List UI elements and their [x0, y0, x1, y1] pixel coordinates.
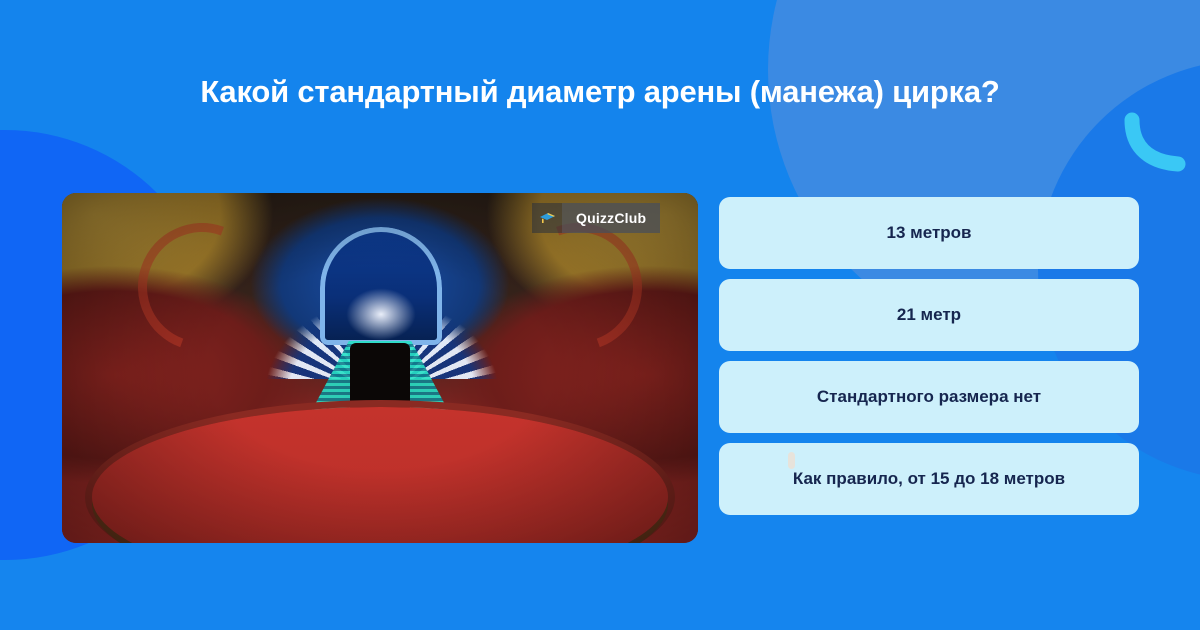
page-title: Какой стандартный диаметр арены (манежа)…	[0, 72, 1200, 112]
graduation-cap-icon	[532, 203, 562, 233]
answer-option-1-label: 13 метров	[887, 223, 972, 243]
watermark: QuizzClub	[532, 203, 660, 233]
answer-option-3[interactable]: Стандартного размера нет	[719, 361, 1139, 433]
answer-option-4-label: Как правило, от 15 до 18 метров	[793, 469, 1065, 489]
quiz-card: Какой стандартный диаметр арены (манежа)…	[0, 0, 1200, 630]
question-image: QuizzClub	[62, 193, 698, 543]
answer-options-list: 13 метров 21 метр Стандартного размера н…	[719, 197, 1139, 525]
scroll-indicator[interactable]	[788, 452, 795, 469]
answer-option-2[interactable]: 21 метр	[719, 279, 1139, 351]
answer-option-2-label: 21 метр	[897, 305, 961, 325]
answer-option-4[interactable]: Как правило, от 15 до 18 метров	[719, 443, 1139, 515]
answer-option-3-label: Стандартного размера нет	[817, 387, 1041, 407]
arc-cyan-icon	[1120, 112, 1190, 174]
answer-option-1[interactable]: 13 метров	[719, 197, 1139, 269]
photo-vignette	[62, 193, 698, 543]
watermark-brand: QuizzClub	[562, 203, 660, 233]
